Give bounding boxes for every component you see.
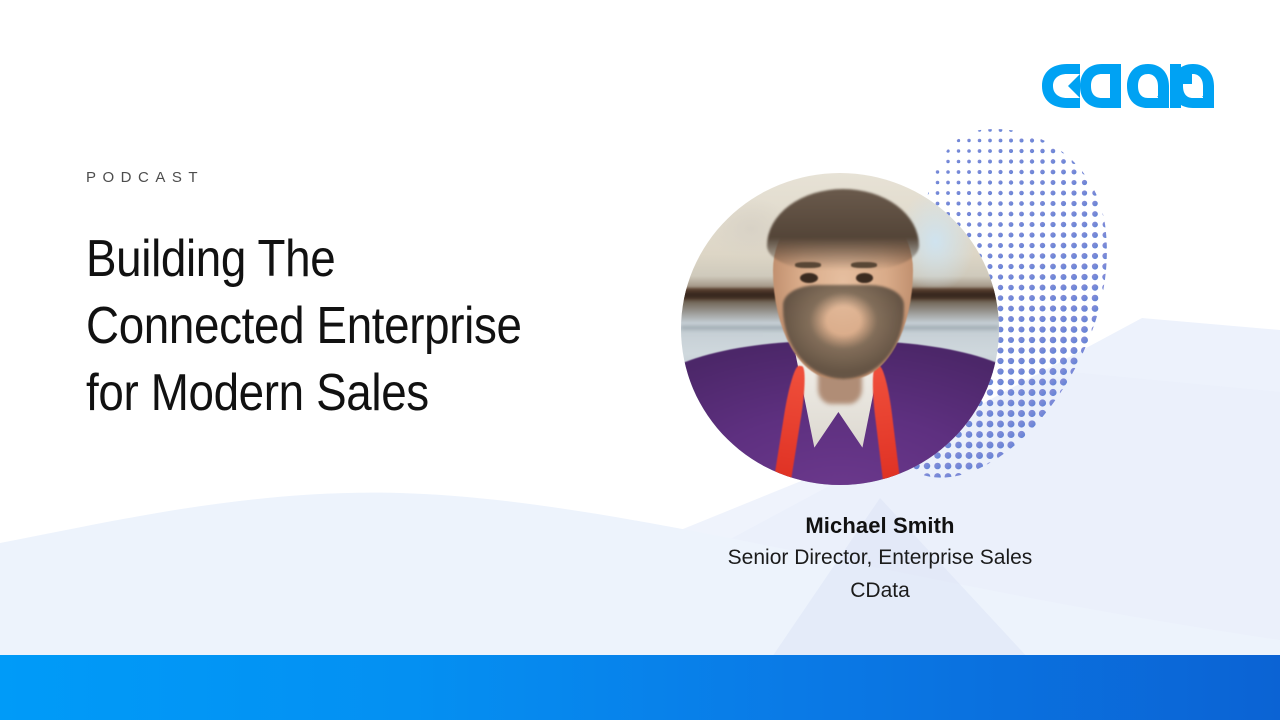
speaker-role: Senior Director, Enterprise Sales: [600, 541, 1160, 574]
photo-brow-left: [795, 262, 820, 268]
speaker-info: Michael Smith Senior Director, Enterpris…: [600, 510, 1160, 607]
logo-letter-c: [1042, 64, 1080, 108]
eyebrow-label: PODCAST: [86, 168, 646, 188]
headshot-image: [681, 173, 999, 485]
logo-letter-a2: [1172, 64, 1214, 108]
photo-eye-right: [856, 273, 873, 283]
speaker-organization: CData: [600, 574, 1160, 607]
photo-eye-left: [800, 273, 817, 283]
title-line-2: Connected Enterprise: [86, 293, 579, 360]
page-title: Building The Connected Enterprise for Mo…: [86, 226, 579, 427]
logo-letter-a1: [1127, 64, 1169, 108]
logo-letter-d: [1080, 64, 1121, 108]
podcast-title-slide: PODCAST Building The Connected Enterpris…: [0, 0, 1280, 720]
title-line-3: for Modern Sales: [86, 360, 579, 427]
title-block: PODCAST Building The Connected Enterpris…: [86, 168, 646, 427]
title-line-1: Building The: [86, 226, 579, 293]
photo-hair: [767, 189, 920, 270]
photo-brow-right: [851, 262, 876, 268]
avatar: [681, 173, 999, 485]
speaker-name: Michael Smith: [600, 510, 1160, 541]
bottom-accent-bar: [0, 655, 1280, 720]
cdata-logo[interactable]: [1040, 60, 1216, 112]
